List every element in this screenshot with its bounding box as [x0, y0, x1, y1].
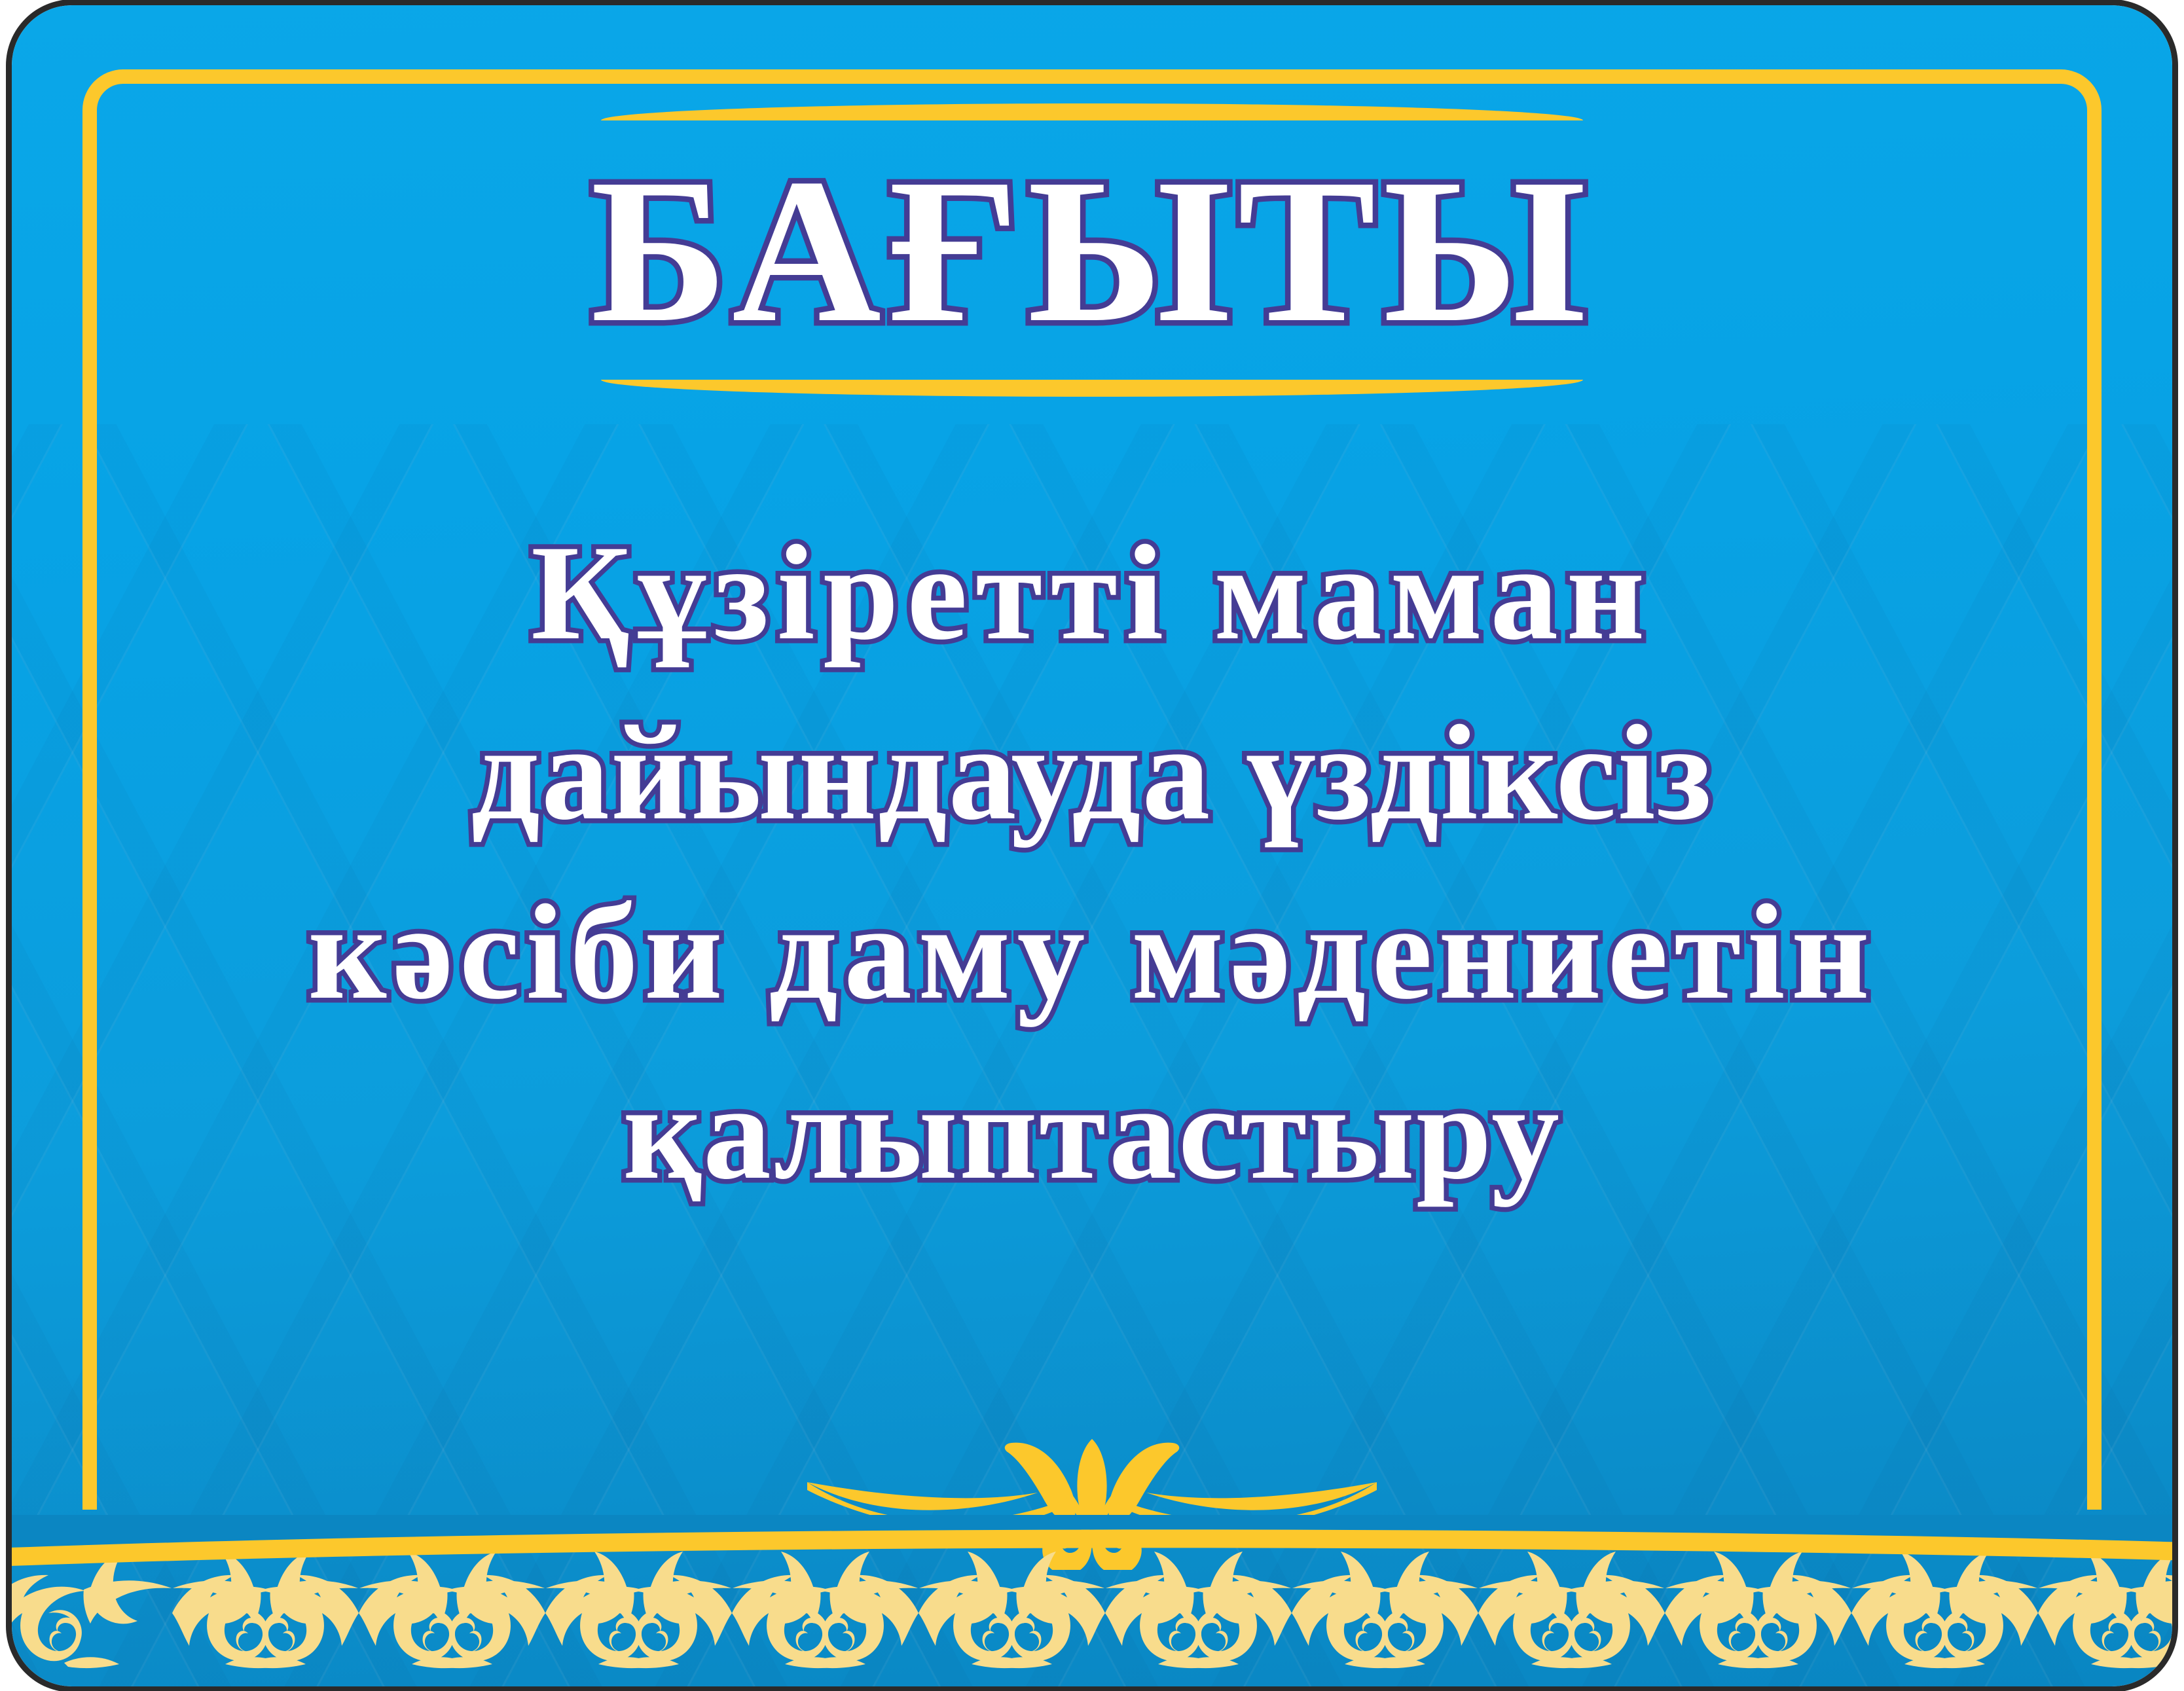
body-text-block: Құзіретті маман дайындауда үздіксіз кәсі… [90, 503, 2094, 1222]
title-block: БАҒЫТЫ [12, 103, 2172, 397]
page-title: БАҒЫТЫ [12, 143, 2172, 360]
kazakh-ornament-border-icon [12, 1515, 2172, 1686]
body-line-4: қалыптастыру [90, 1042, 2094, 1222]
bottom-ornament-band [12, 1515, 2172, 1686]
poster-canvas: БАҒЫТЫ Құзіретті маман дайындауда үздікс… [0, 0, 2184, 1691]
body-line-1: Құзіретті маман [90, 503, 2094, 683]
body-line-3: кәсіби даму мәдениетін [90, 862, 2094, 1042]
body-line-2: дайындауда үздіксіз [90, 683, 2094, 863]
poster-plaque: БАҒЫТЫ Құзіретті маман дайындауда үздікс… [12, 5, 2172, 1686]
title-swoosh-top-icon [601, 103, 1583, 120]
title-swoosh-bottom-icon [601, 380, 1583, 397]
